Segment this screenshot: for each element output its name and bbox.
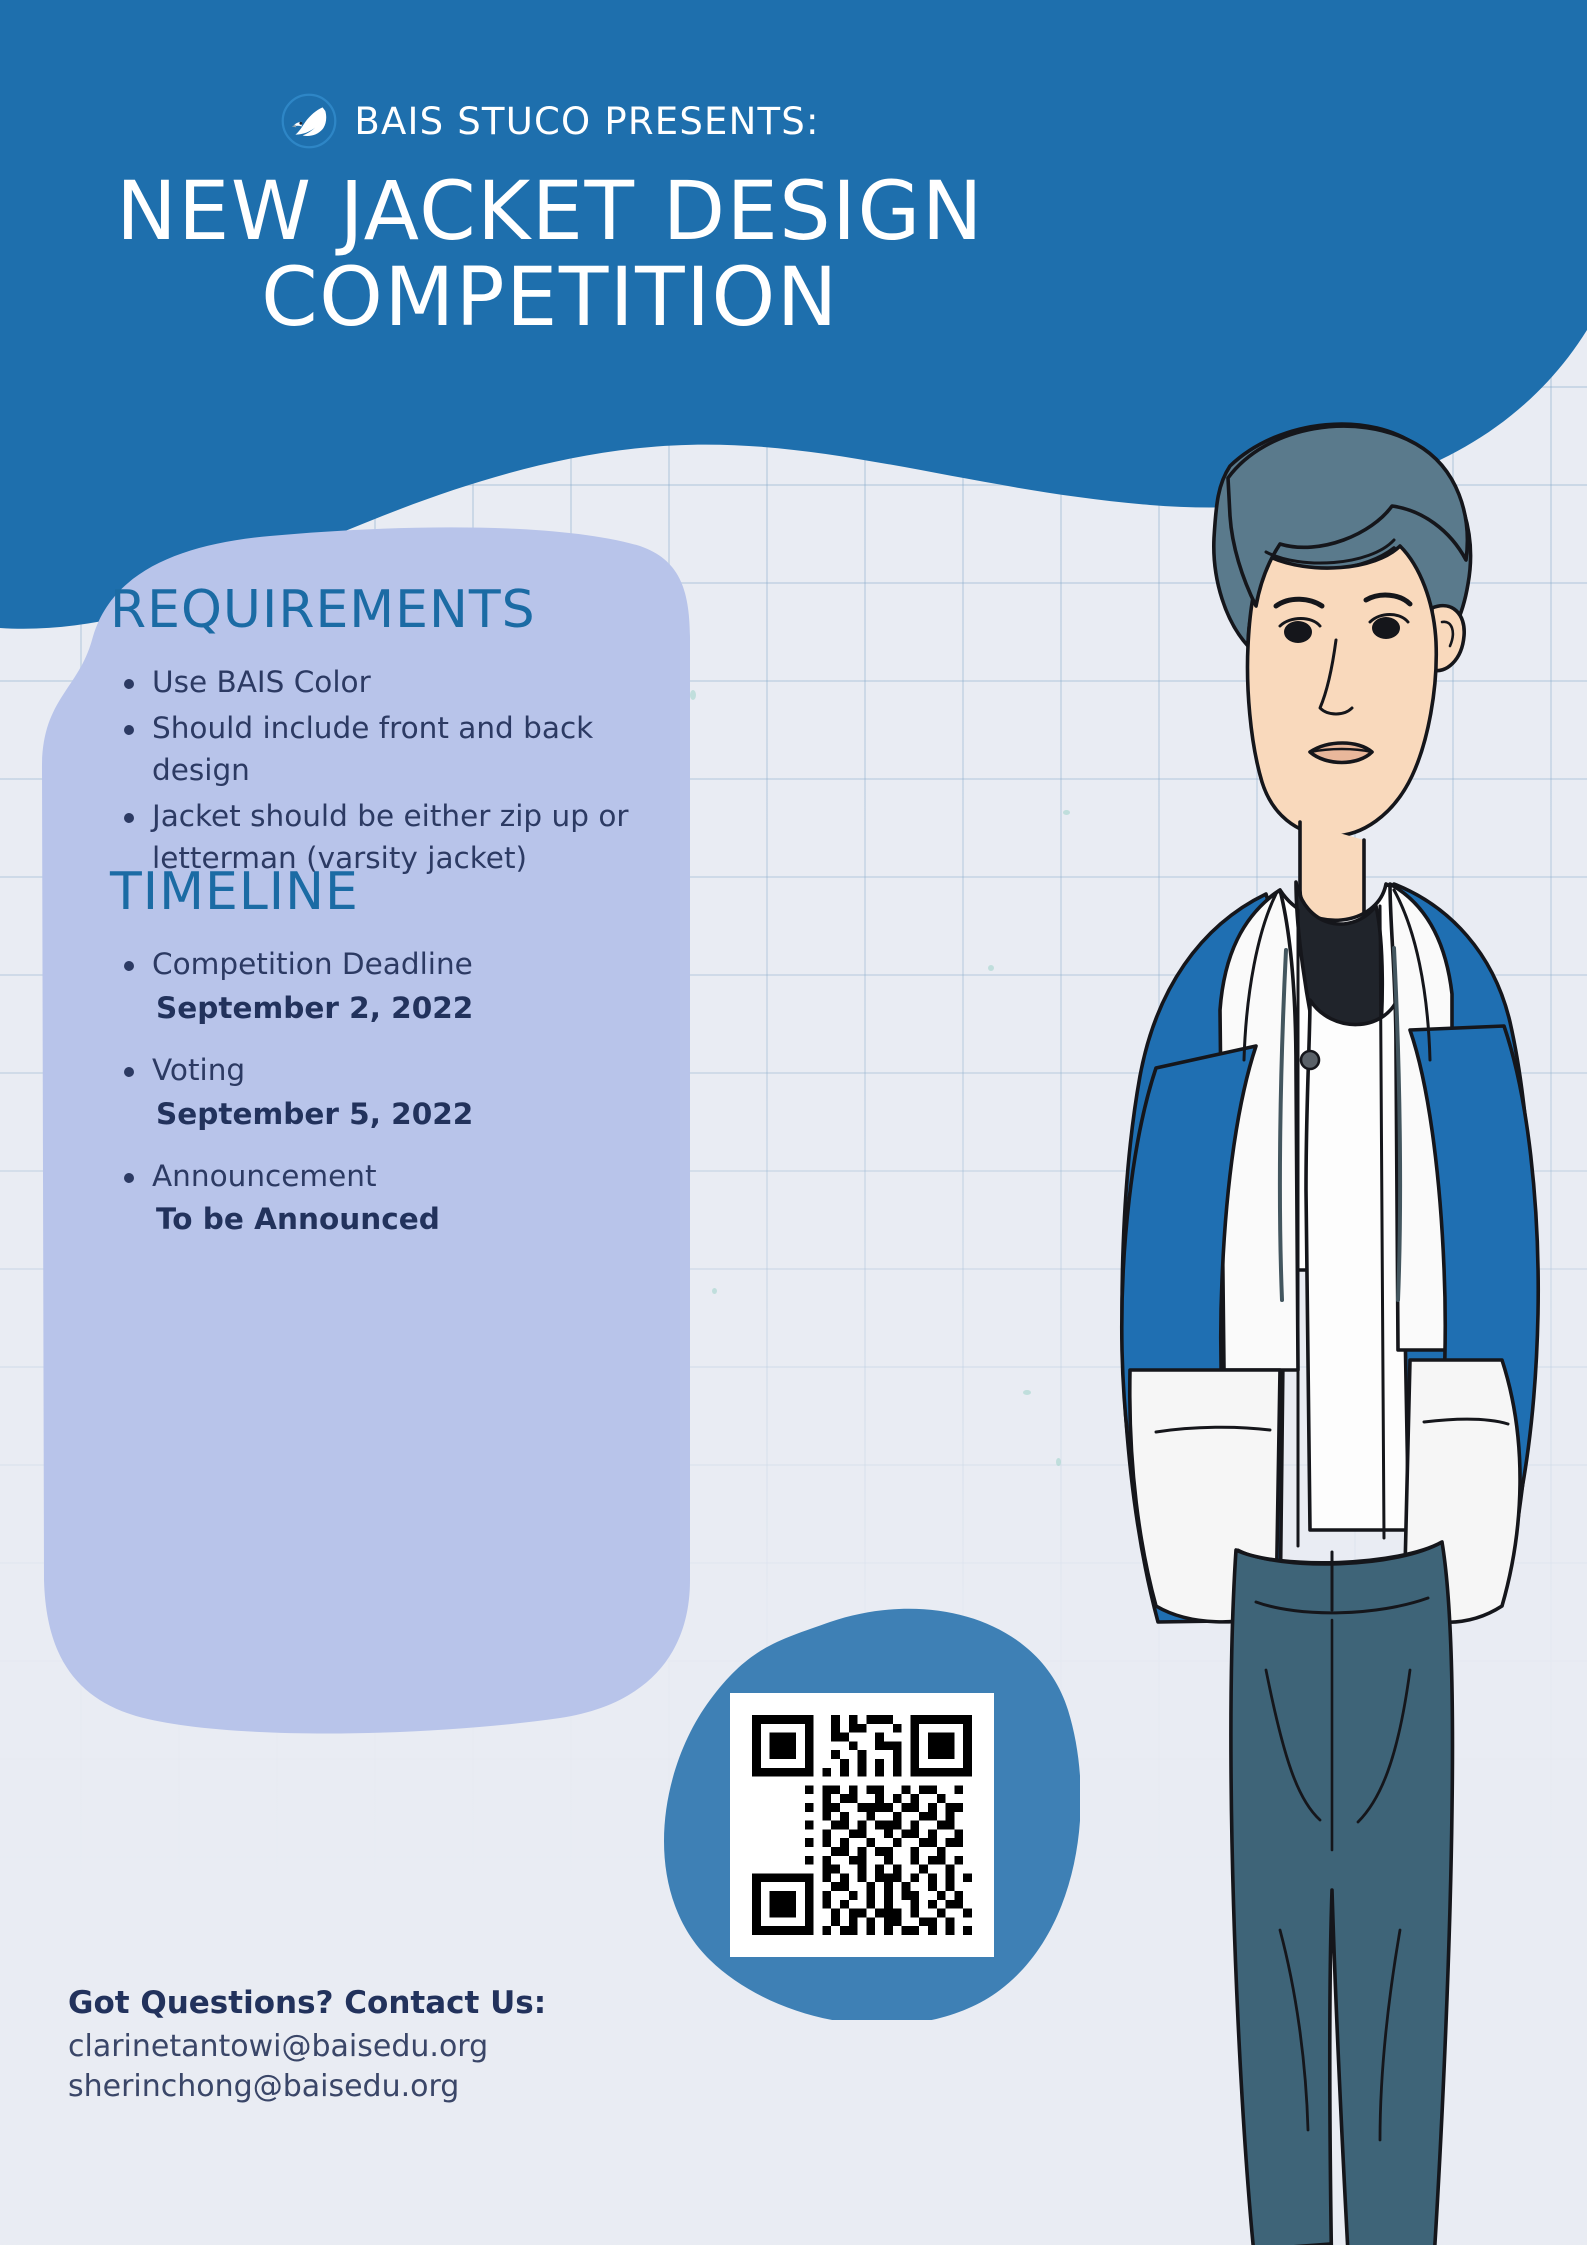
presents-label: BAIS STUCO PRESENTS: xyxy=(354,100,819,143)
qr-code-panel[interactable] xyxy=(730,1693,994,1957)
timeline-label: Voting xyxy=(152,1053,245,1087)
list-item: Announcement To be Announced xyxy=(152,1156,670,1242)
poster-canvas: BAIS STUCO PRESENTS: NEW JACKET DESIGN C… xyxy=(0,0,1587,2245)
student-wearing-jacket-illustration xyxy=(980,370,1587,2245)
timeline-list: Competition Deadline September 2, 2022 V… xyxy=(110,944,670,1241)
list-item: Voting September 5, 2022 xyxy=(152,1050,670,1136)
timeline-section: TIMELINE Competition Deadline September … xyxy=(110,862,670,1261)
requirements-heading: REQUIREMENTS xyxy=(110,580,670,640)
qr-code-icon[interactable] xyxy=(752,1715,972,1935)
poster-header: BAIS STUCO PRESENTS: NEW JACKET DESIGN C… xyxy=(0,86,1100,342)
list-item: Competition Deadline September 2, 2022 xyxy=(152,944,670,1030)
contact-heading: Got Questions? Contact Us: xyxy=(68,1985,768,2021)
bais-eagle-logo-icon xyxy=(280,92,338,150)
speck-decoration xyxy=(712,1288,717,1294)
list-item: Use BAIS Color xyxy=(152,662,670,704)
title-line-1: NEW JACKET DESIGN xyxy=(60,170,1040,256)
timeline-heading: TIMELINE xyxy=(110,862,670,922)
timeline-label: Competition Deadline xyxy=(152,947,473,981)
contact-block: Got Questions? Contact Us: clarinetantow… xyxy=(68,1985,768,2106)
timeline-value: September 2, 2022 xyxy=(156,988,670,1030)
contact-email[interactable]: sherinchong@baisedu.org xyxy=(68,2067,768,2107)
contact-email[interactable]: clarinetantowi@baisedu.org xyxy=(68,2027,768,2067)
requirements-section: REQUIREMENTS Use BAIS Color Should inclu… xyxy=(110,580,670,883)
timeline-value: September 5, 2022 xyxy=(156,1094,670,1136)
poster-title: NEW JACKET DESIGN COMPETITION xyxy=(0,170,1100,342)
timeline-value: To be Announced xyxy=(156,1199,670,1241)
requirements-list: Use BAIS Color Should include front and … xyxy=(110,662,670,879)
timeline-label: Announcement xyxy=(152,1159,377,1193)
presents-row: BAIS STUCO PRESENTS: xyxy=(0,86,1100,156)
title-line-2: COMPETITION xyxy=(60,256,1040,342)
list-item: Should include front and back design xyxy=(152,708,670,792)
